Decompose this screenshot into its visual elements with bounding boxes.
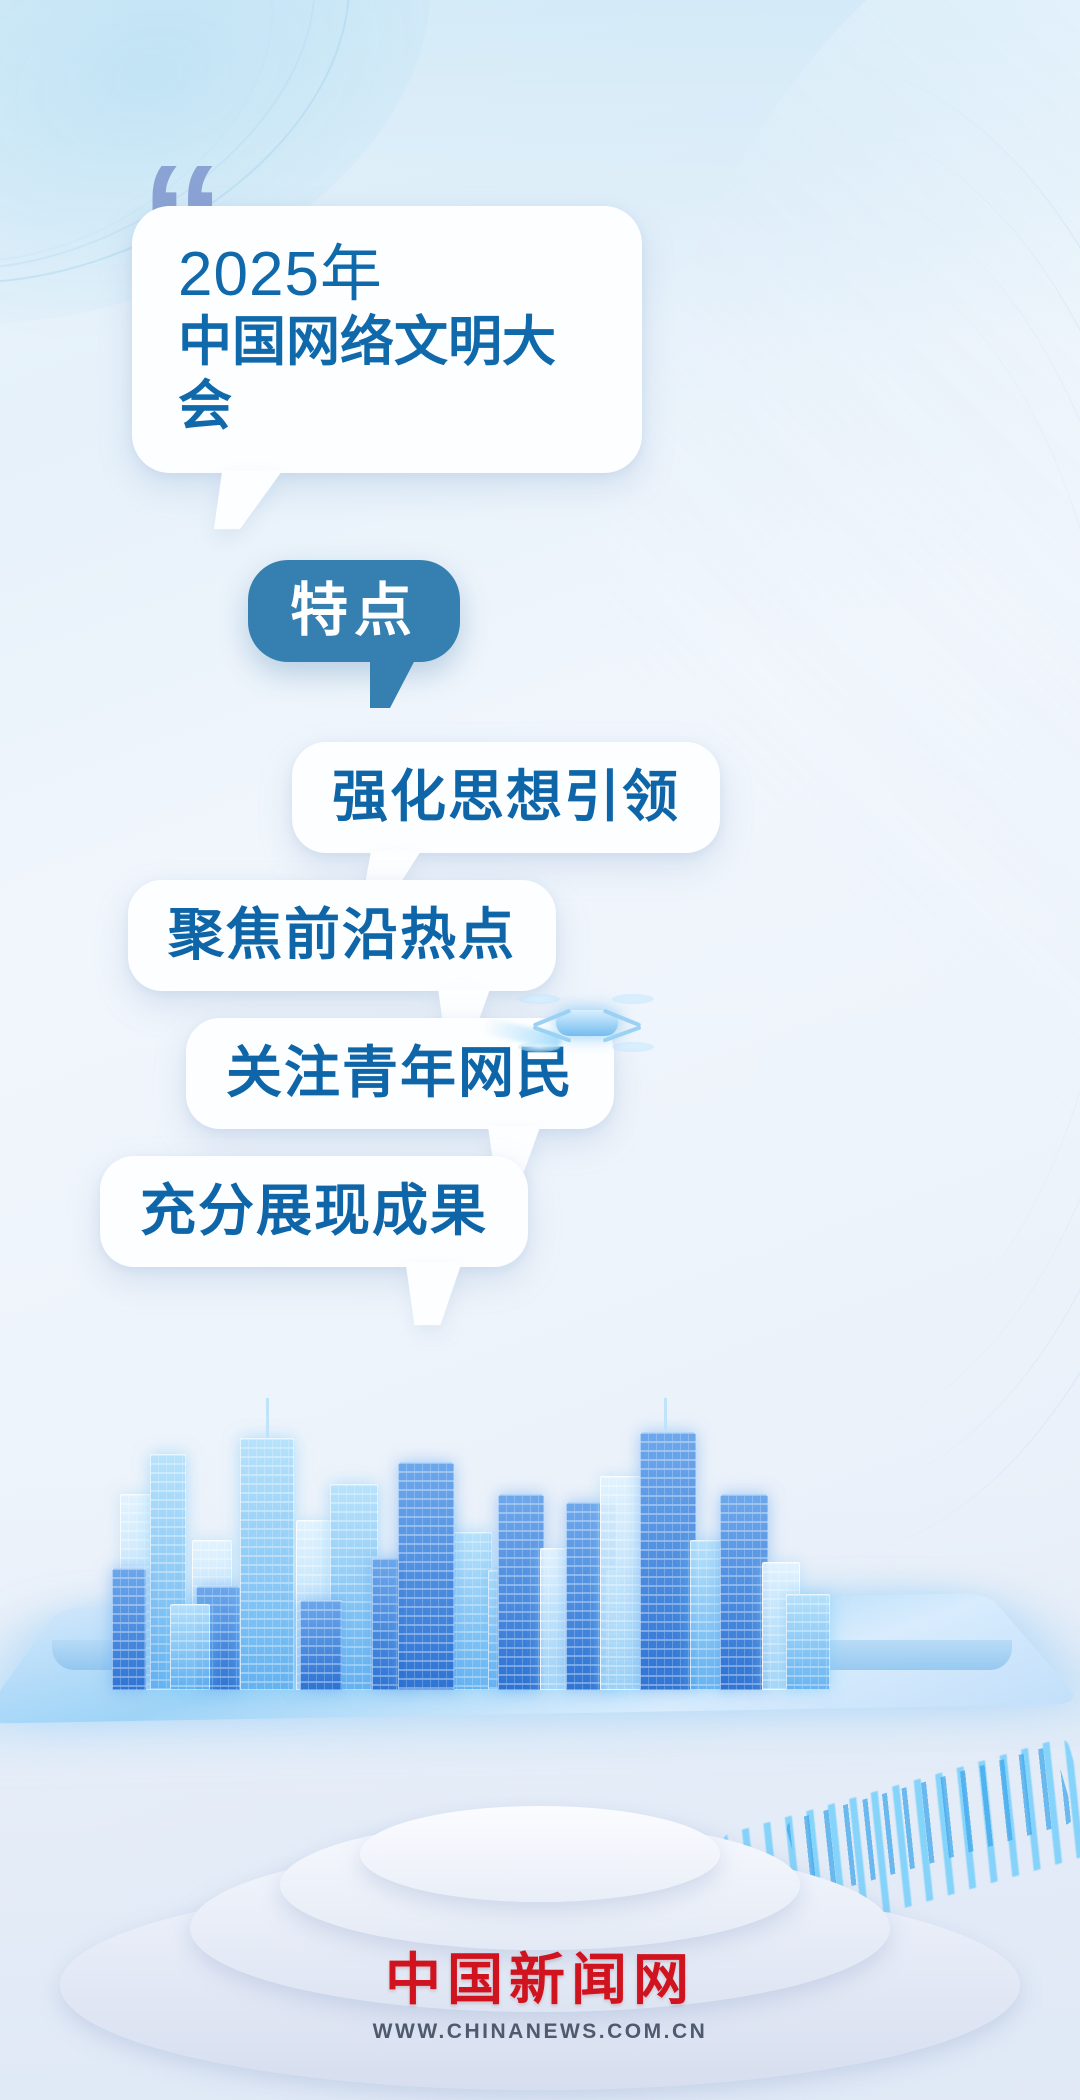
- feature-badge-label: 特点: [248, 582, 460, 640]
- building-spire: [266, 1398, 269, 1438]
- building: [720, 1494, 768, 1690]
- title-year: 2025年: [178, 240, 608, 309]
- point-label-4: 充分展现成果: [140, 1182, 488, 1241]
- logo-text-chinese: 中国新闻网: [0, 1952, 1080, 2008]
- point-bubble-1: 强化思想引领: [292, 742, 720, 853]
- poster-root: “ ” 2025年 中国网络文明大会 特点 强化思想引领 聚焦前沿热点 关注青年…: [0, 0, 1080, 2100]
- drone-rotor-1: [518, 994, 560, 1004]
- building: [498, 1494, 544, 1690]
- feature-badge-tail: [370, 658, 416, 708]
- logo-url: WWW.CHINANEWS.COM.CN: [0, 2020, 1080, 2044]
- title-conference-name: 中国网络文明大会: [178, 311, 608, 438]
- site-logo: 中国新闻网 WWW.CHINANEWS.COM.CN: [0, 1952, 1080, 2044]
- pedestal-base: 中国新闻网 WWW.CHINANEWS.COM.CN: [0, 1670, 1080, 2100]
- drone-rotor-2: [612, 994, 654, 1004]
- drone-rotor-3: [518, 1042, 560, 1052]
- point-label-2: 聚焦前沿热点: [168, 906, 516, 965]
- quadcopter-drone-icon: [516, 980, 656, 1066]
- title-bubble: 2025年 中国网络文明大会: [132, 206, 642, 473]
- point-bubble-2-body: 聚焦前沿热点: [128, 880, 556, 991]
- point-label-1: 强化思想引领: [332, 768, 680, 827]
- building: [640, 1432, 696, 1690]
- point-bubble-1-body: 强化思想引领: [292, 742, 720, 853]
- drone-rotor-4: [612, 1042, 654, 1052]
- title-bubble-body: 2025年 中国网络文明大会: [132, 206, 642, 473]
- feature-badge-bubble: 特点: [248, 560, 460, 662]
- building: [448, 1532, 492, 1690]
- building: [240, 1438, 294, 1690]
- feature-badge-body: 特点: [248, 560, 460, 662]
- point-bubble-2: 聚焦前沿热点: [128, 880, 556, 991]
- building: [398, 1462, 454, 1690]
- building: [600, 1476, 644, 1690]
- city-skyline: [0, 1350, 1080, 1690]
- building-spire: [664, 1398, 667, 1432]
- pedestal-ring-4: [360, 1806, 720, 1902]
- title-bubble-tail: [214, 471, 282, 529]
